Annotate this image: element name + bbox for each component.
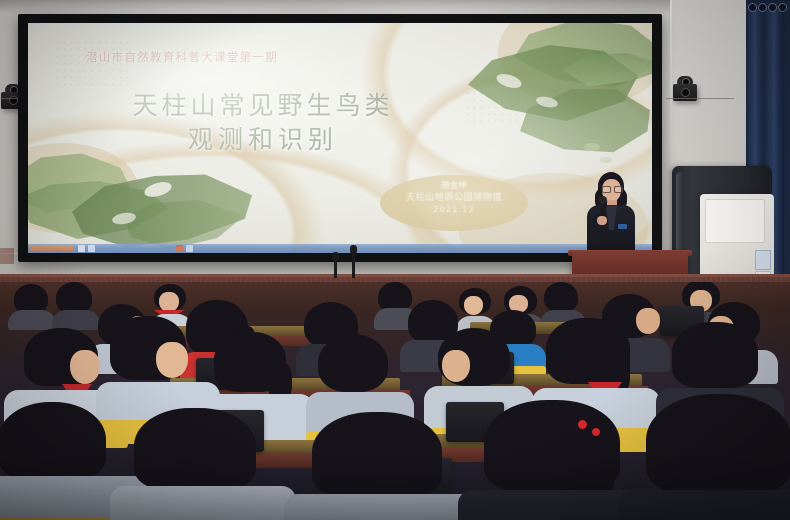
eyeglasses-icon <box>602 186 611 193</box>
slide-title-line1: 天柱山常见野生鸟类 <box>28 89 498 123</box>
microphone-stand <box>352 252 355 278</box>
screenshot-root: 潜山市自然教育科普大课堂第一期 天柱山常见野生鸟类 观测和识别 施金坤 天柱山地… <box>0 0 790 520</box>
curtain-grommet <box>748 3 757 12</box>
stage-edge <box>0 274 790 277</box>
presenter <box>578 172 642 256</box>
windows-taskbar[interactable] <box>28 244 652 253</box>
ac-label-badge <box>755 250 771 270</box>
slide-leaf-speck <box>584 143 600 151</box>
microphone-head-icon <box>599 196 607 204</box>
camera-cable <box>666 98 734 99</box>
taskbar-app-icon[interactable] <box>78 245 85 252</box>
curtain-grommet <box>768 3 777 12</box>
hair-tie <box>592 428 600 436</box>
camera-aperture-icon <box>681 88 690 97</box>
student-hair <box>318 334 388 392</box>
slide-title-line2: 观测和识别 <box>28 123 498 157</box>
hair-tie <box>578 420 587 429</box>
slide-presenter-name: 施金坤 <box>380 181 528 193</box>
curtain-grommet <box>778 3 787 12</box>
student-face <box>159 292 179 312</box>
student-hair <box>544 282 578 312</box>
slide-organization: 天柱山地质公园博物馆 <box>380 193 528 205</box>
projection-screen-frame: 潜山市自然教育科普大课堂第一期 天柱山常见野生鸟类 观测和识别 施金坤 天柱山地… <box>18 14 662 262</box>
start-button[interactable] <box>30 245 74 252</box>
presenter-name-badge <box>618 224 627 229</box>
student-body <box>8 310 56 330</box>
student-face <box>156 342 188 378</box>
taskbar-app-icon[interactable] <box>186 245 193 252</box>
student <box>8 284 54 324</box>
eyeglasses-icon <box>614 186 623 193</box>
slide-credit: 施金坤 天柱山地质公园博物馆 2021.12 <box>380 181 528 216</box>
student-face <box>70 350 100 384</box>
audience-area <box>0 282 790 520</box>
taskbar-app-icon[interactable] <box>88 245 95 252</box>
presenter-hand <box>597 216 607 225</box>
microphone-icon <box>350 245 357 254</box>
slide-date: 2021.12 <box>380 204 528 216</box>
wall-outlet <box>0 248 14 264</box>
student-face <box>442 350 470 382</box>
taskbar-app-icon[interactable] <box>176 245 183 252</box>
projected-slide: 潜山市自然教育科普大课堂第一期 天柱山常见野生鸟类 观测和识别 施金坤 天柱山地… <box>28 23 652 253</box>
slide-title: 天柱山常见野生鸟类 观测和识别 <box>28 89 498 157</box>
student-face <box>464 296 483 315</box>
student-hair <box>672 322 758 388</box>
curtain-grommet <box>758 3 767 12</box>
ac-front-panel <box>705 199 765 243</box>
microphone-stand <box>334 258 337 278</box>
slide-subtitle: 潜山市自然教育科普大课堂第一期 <box>86 49 278 65</box>
foreground-shadow <box>0 450 790 520</box>
slide-leaf-speck <box>600 157 612 163</box>
microphone-icon <box>332 252 339 261</box>
